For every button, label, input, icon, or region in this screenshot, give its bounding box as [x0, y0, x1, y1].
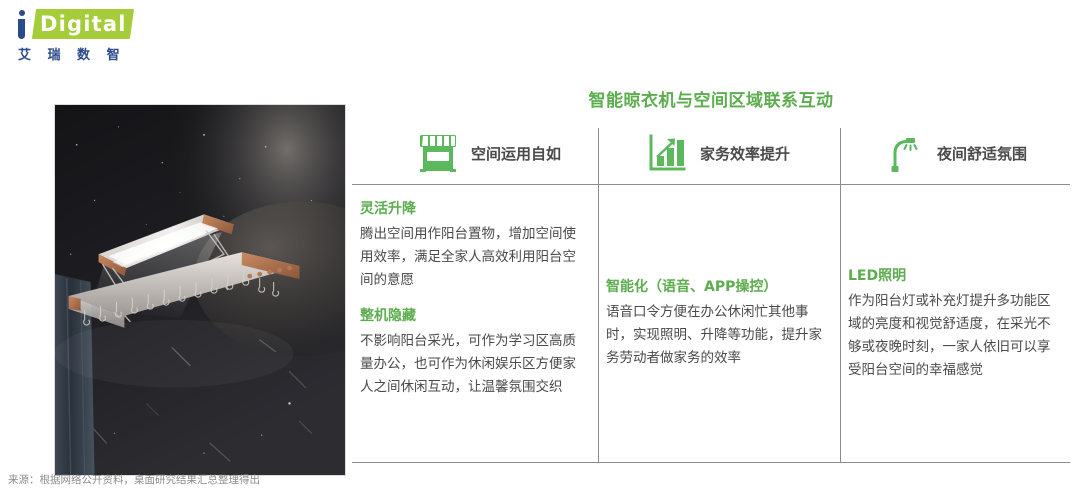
logo-mark: Digital: [16, 8, 134, 42]
feature-matrix: 空间运用自如 家务效率提升: [352, 122, 1070, 463]
matrix-body-row: 灵活升降 腾出空间用作阳台置物，增加空间使用效率，满足全家人高效利用阳台空间的意…: [352, 185, 1070, 463]
brand-logo: Digital 艾 瑞 数 智: [16, 8, 146, 66]
feature-block: 灵活升降 腾出空间用作阳台置物，增加空间使用效率，满足全家人高效利用阳台空间的意…: [360, 199, 586, 292]
matrix-body-cell-3: LED照明 作为阳台灯或补充灯提升多功能区域的亮度和视觉舒适度，在采光不够或夜晚…: [840, 185, 1070, 462]
feature-text: 作为阳台灯或补充灯提升多功能区域的亮度和视觉舒适度，在采光不够或夜晚时刻，一家人…: [848, 290, 1058, 382]
matrix-header-label-3: 夜间舒适氛围: [937, 143, 1027, 164]
storefront-icon: [419, 133, 457, 173]
feature-text: 语音口令方便在办公休闲忙其他事时，实现照明、升降等功能，提升家务劳动者做家务的效…: [606, 301, 828, 370]
feature-block: LED照明 作为阳台灯或补充灯提升多功能区域的亮度和视觉舒适度，在采光不够或夜晚…: [848, 266, 1058, 382]
street-lamp-icon: [883, 133, 923, 173]
matrix-header-cell-3: 夜间舒适氛围: [840, 122, 1070, 184]
bar-chart-growth-icon: [648, 133, 686, 173]
feature-title: LED照明: [848, 266, 1058, 286]
matrix-header-cell-1: 空间运用自如: [352, 122, 598, 184]
matrix-header-label-1: 空间运用自如: [471, 143, 561, 164]
matrix-header-cell-2: 家务效率提升: [598, 122, 840, 184]
matrix-header-label-2: 家务效率提升: [700, 143, 790, 164]
feature-text: 不影响阳台采光，可作为学习区高质量办公，也可作为休闲娱乐区方便家人之间休闲互动，…: [360, 330, 586, 399]
feature-text: 腾出空间用作阳台置物，增加空间使用效率，满足全家人高效利用阳台空间的意愿: [360, 223, 586, 292]
matrix-header-row: 空间运用自如 家务效率提升: [352, 122, 1070, 185]
feature-block: 整机隐藏 不影响阳台采光，可作为学习区高质量办公，也可作为休闲娱乐区方便家人之间…: [360, 306, 586, 399]
smart-drying-rack-illustration: [55, 105, 345, 475]
matrix-body-cell-2: 智能化（语音、APP操控） 语音口令方便在办公休闲忙其他事时，实现照明、升降等功…: [598, 185, 840, 462]
logo-i-dot-icon: [19, 10, 25, 16]
logo-i-stem-icon: [18, 19, 25, 39]
page-title: 智能晾衣机与空间区域联系互动: [350, 86, 1072, 111]
feature-title: 灵活升降: [360, 199, 586, 219]
product-image: [54, 104, 346, 476]
logo-wordmark: Digital: [40, 12, 127, 36]
feature-title: 智能化（语音、APP操控）: [606, 277, 828, 297]
logo-chinese-name: 艾 瑞 数 智: [18, 44, 126, 63]
feature-title: 整机隐藏: [360, 306, 586, 326]
matrix-body-cell-1: 灵活升降 腾出空间用作阳台置物，增加空间使用效率，满足全家人高效利用阳台空间的意…: [352, 185, 598, 462]
feature-block: 智能化（语音、APP操控） 语音口令方便在办公休闲忙其他事时，实现照明、升降等功…: [606, 277, 828, 370]
source-note: 来源：根据网络公开资料，桌面研究结果汇总整理得出: [8, 472, 260, 487]
